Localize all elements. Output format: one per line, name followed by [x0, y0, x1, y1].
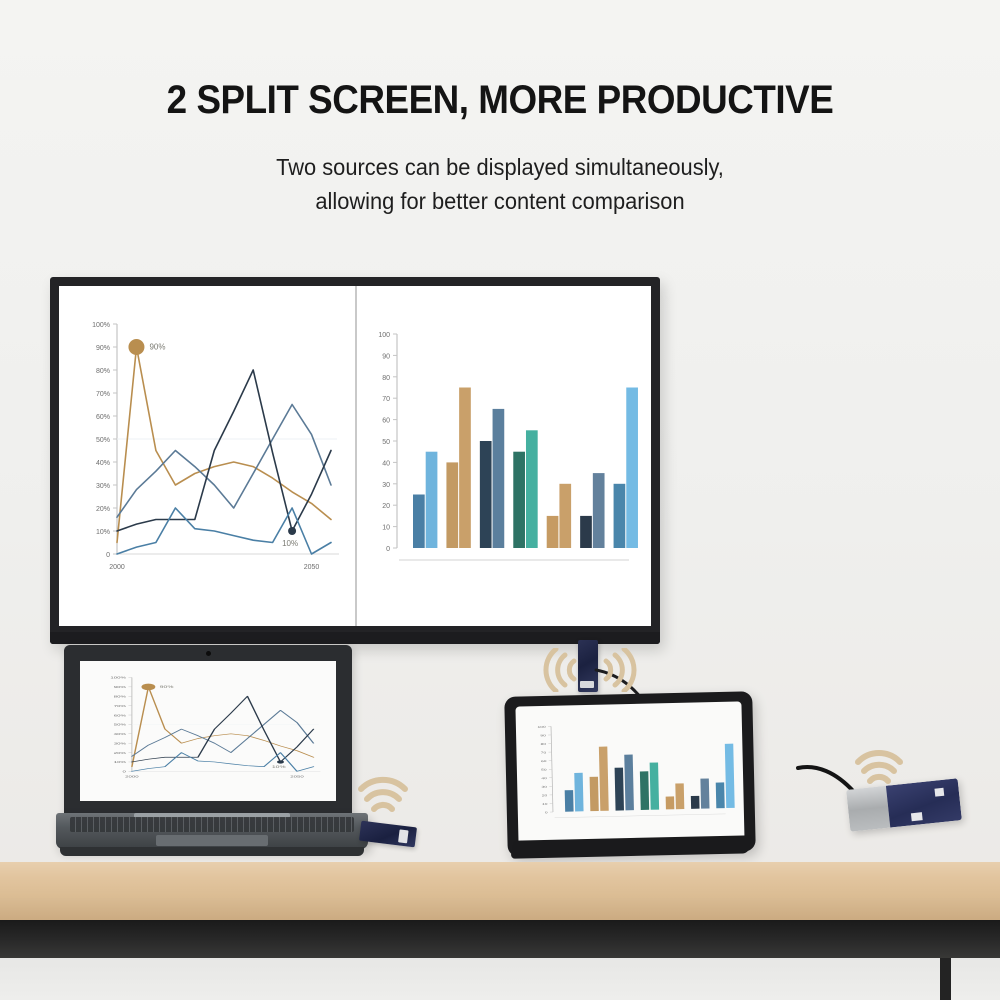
- wifi-signal-monitor-left: [540, 648, 580, 692]
- page-title: 2 SPLIT SCREEN, MORE PRODUCTIVE: [40, 78, 960, 123]
- svg-text:80: 80: [541, 742, 548, 746]
- svg-text:40: 40: [541, 776, 548, 780]
- svg-text:40: 40: [382, 460, 390, 467]
- svg-text:70%: 70%: [114, 704, 127, 708]
- svg-text:30: 30: [382, 482, 390, 489]
- svg-text:80%: 80%: [114, 695, 127, 699]
- svg-text:100: 100: [378, 332, 390, 339]
- wifi-signal-laptop: [358, 772, 408, 818]
- svg-text:80: 80: [382, 375, 390, 382]
- wifi-signal-receiver: [852, 748, 906, 790]
- svg-text:90: 90: [540, 734, 547, 738]
- desk-underside-shadow: [0, 920, 1000, 960]
- monitor-right-pane: 0102030405060708090100: [355, 286, 651, 626]
- laptop-trackpad[interactable]: [156, 835, 268, 846]
- svg-text:90%: 90%: [96, 345, 110, 352]
- laptop-screen: 010%20%30%40%50%60%70%80%90%100%20002050…: [80, 661, 336, 801]
- svg-text:70: 70: [382, 396, 390, 403]
- laptop-keyboard[interactable]: [70, 817, 354, 832]
- dongle-metal-connector: [846, 786, 890, 832]
- line-chart-monitor: 010%20%30%40%50%60%70%80%90%100%20002050…: [59, 286, 355, 626]
- monitor-left-pane: 010%20%30%40%50%60%70%80%90%100%20002050…: [59, 286, 355, 626]
- laptop-lid: 010%20%30%40%50%60%70%80%90%100%20002050…: [64, 645, 352, 817]
- svg-text:2000: 2000: [125, 775, 139, 779]
- svg-text:20: 20: [382, 503, 390, 510]
- svg-text:0: 0: [106, 552, 110, 559]
- svg-text:70: 70: [541, 751, 548, 755]
- svg-text:40%: 40%: [114, 733, 127, 737]
- monitor-bottom-bezel: [50, 632, 660, 644]
- svg-text:50: 50: [541, 768, 548, 772]
- laptop-front-edge: [60, 847, 364, 856]
- svg-text:50%: 50%: [114, 723, 127, 727]
- svg-text:50%: 50%: [96, 437, 110, 444]
- svg-text:10%: 10%: [282, 539, 298, 548]
- svg-text:90%: 90%: [114, 686, 127, 690]
- svg-text:60: 60: [382, 418, 390, 425]
- svg-text:50: 50: [382, 439, 390, 446]
- floor: [0, 958, 1000, 1000]
- subtitle-line-1: Two sources can be displayed simultaneou…: [25, 152, 975, 183]
- svg-text:20%: 20%: [114, 751, 127, 755]
- dongle-connector-tip: [580, 681, 594, 688]
- tablet: 0102030405060708090100: [506, 694, 754, 866]
- svg-text:80%: 80%: [96, 368, 110, 375]
- hdmi-dongle-monitor[interactable]: [578, 640, 598, 692]
- desk-leg: [940, 958, 951, 1000]
- svg-text:90%: 90%: [160, 686, 174, 690]
- svg-text:100%: 100%: [110, 676, 126, 680]
- svg-text:0: 0: [122, 770, 126, 774]
- svg-text:2050: 2050: [290, 775, 304, 779]
- line-chart-laptop: 010%20%30%40%50%60%70%80%90%100%20002050…: [80, 661, 336, 801]
- svg-text:2000: 2000: [109, 564, 125, 571]
- svg-text:10%: 10%: [272, 766, 286, 770]
- bar-chart-monitor: 0102030405060708090100: [355, 286, 651, 626]
- svg-text:20%: 20%: [96, 506, 110, 513]
- svg-text:60%: 60%: [114, 714, 127, 718]
- svg-text:0: 0: [545, 811, 549, 814]
- svg-text:100%: 100%: [92, 322, 110, 329]
- svg-text:90: 90: [382, 353, 390, 360]
- svg-text:2050: 2050: [304, 564, 320, 571]
- wifi-signal-monitor-right: [600, 648, 640, 692]
- svg-text:100: 100: [537, 725, 546, 729]
- dongle-notch: [911, 812, 923, 821]
- svg-text:30%: 30%: [114, 742, 127, 746]
- product-marketing-image: 2 SPLIT SCREEN, MORE PRODUCTIVE Two sour…: [0, 0, 1000, 1000]
- dongle-connector-tip: [398, 829, 409, 843]
- split-screen-monitor: 010%20%30%40%50%60%70%80%90%100%20002050…: [50, 277, 660, 644]
- svg-text:0: 0: [386, 546, 390, 553]
- bar-chart-tablet: 0102030405060708090100: [515, 701, 744, 846]
- svg-text:10%: 10%: [96, 529, 110, 536]
- svg-text:30: 30: [542, 785, 549, 789]
- svg-text:10%: 10%: [114, 761, 127, 765]
- tablet-screen: 0102030405060708090100: [515, 701, 744, 846]
- dongle-notch: [934, 788, 944, 797]
- laptop: 010%20%30%40%50%60%70%80%90%100%20002050…: [56, 645, 368, 867]
- svg-text:90%: 90%: [149, 343, 165, 352]
- webcam-icon: [206, 651, 211, 656]
- monitor-screen: 010%20%30%40%50%60%70%80%90%100%20002050…: [59, 286, 651, 626]
- svg-text:60: 60: [541, 759, 548, 763]
- svg-text:60%: 60%: [96, 414, 110, 421]
- svg-text:20: 20: [542, 794, 549, 798]
- svg-text:40%: 40%: [96, 460, 110, 467]
- svg-text:30%: 30%: [96, 483, 110, 490]
- svg-text:70%: 70%: [96, 391, 110, 398]
- svg-text:10: 10: [542, 802, 549, 806]
- svg-text:10: 10: [382, 525, 390, 532]
- subtitle-line-2: allowing for better content comparison: [25, 186, 975, 217]
- tablet-body: 0102030405060708090100: [504, 691, 756, 857]
